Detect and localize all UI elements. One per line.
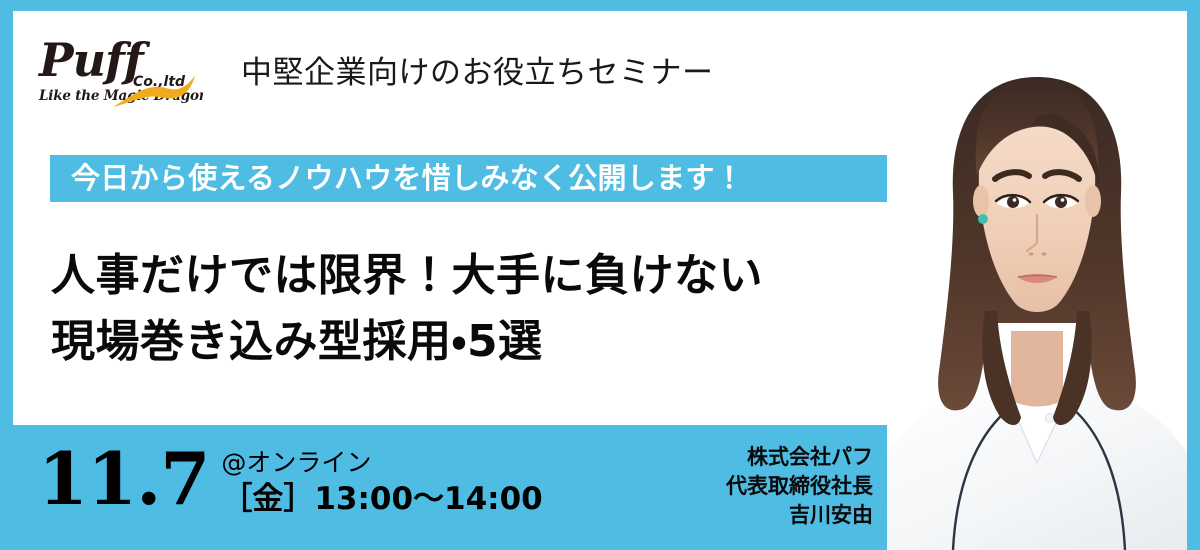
speaker-title: 代表取締役社長 [726, 472, 873, 501]
event-date-block: 11.7 @オンライン ［金］13:00〜14:00 [38, 437, 543, 521]
seminar-headline: 人事だけでは限界！大手に負けない 現場巻き込み型採用・5選 [51, 243, 763, 375]
highlight-banner-text: 今日から使えるノウハウを惜しみなく公開します！ [50, 164, 744, 193]
speaker-name: 吉川安由 [726, 501, 873, 530]
speaker-info: 株式会社パフ 代表取締役社長 吉川安由 [726, 443, 873, 530]
speaker-portrait [887, 11, 1187, 550]
event-venue: @オンライン [221, 447, 542, 479]
puff-logo: Puff Co.,ltd Like the Magic Dragon [35, 28, 203, 110]
highlight-banner: 今日から使えるノウハウを惜しみなく公開します！ [50, 155, 888, 202]
headline-line-1: 人事だけでは限界！大手に負けない [51, 243, 763, 309]
event-date: 11.7 [38, 437, 209, 521]
event-time: ［金］13:00〜14:00 [221, 479, 542, 519]
event-date-meta: @オンライン ［金］13:00〜14:00 [221, 437, 542, 519]
seminar-banner: Puff Co.,ltd Like the Magic Dragon 中堅企業向… [0, 0, 1200, 550]
headline-line-2: 現場巻き込み型採用・5選 [51, 309, 763, 375]
header-title: 中堅企業向けのお役立ちセミナー [241, 47, 714, 92]
speaker-company: 株式会社パフ [726, 443, 873, 472]
